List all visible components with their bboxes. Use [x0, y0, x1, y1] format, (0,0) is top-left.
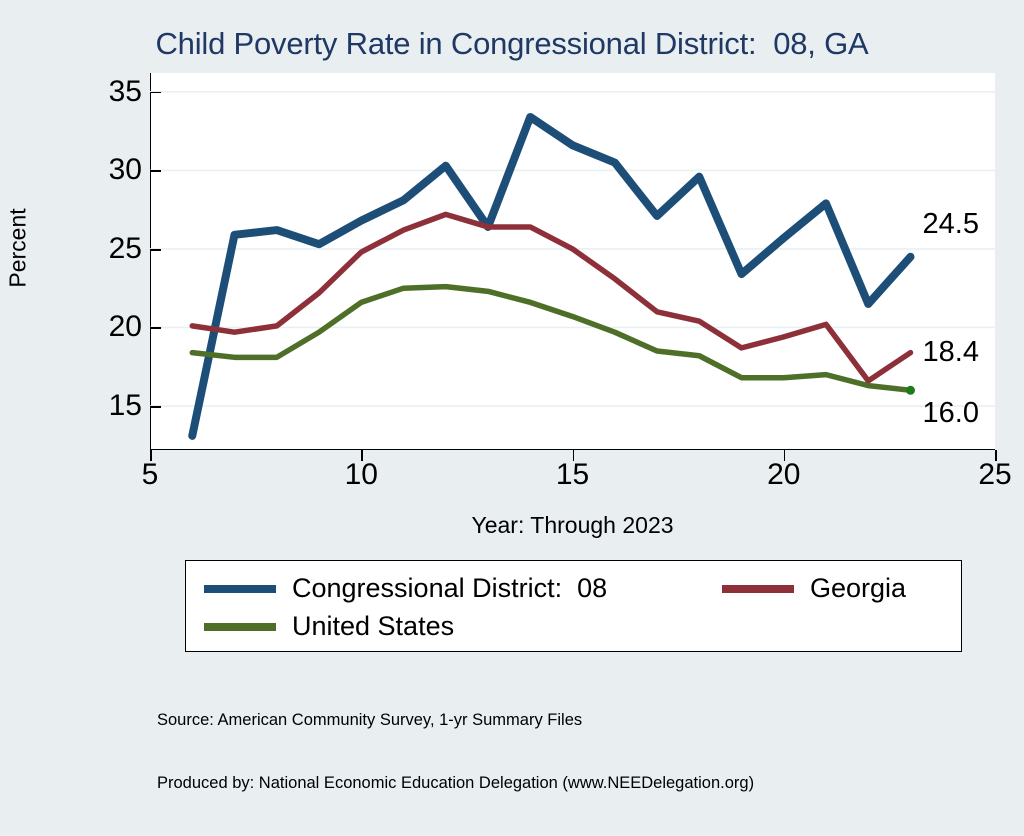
y-tick-mark: [150, 327, 161, 329]
series-end-marker-united-states: [906, 386, 915, 395]
y-tick-mark: [150, 406, 161, 408]
x-axis-title: Year: Through 2023: [150, 512, 995, 539]
x-tick-mark: [150, 450, 152, 461]
chart-legend: Congressional District: 08 Georgia Unite…: [185, 560, 962, 652]
x-tick-label: 15: [513, 458, 633, 492]
chart-page: Child Poverty Rate in Congressional Dist…: [0, 0, 1024, 745]
x-tick-mark: [995, 450, 997, 461]
x-tick-mark: [573, 450, 575, 461]
y-tick-label: 25: [42, 232, 142, 266]
series-line-0: [192, 117, 910, 436]
x-tick-label: 20: [724, 458, 844, 492]
x-tick-label: 10: [301, 458, 421, 492]
legend-item-united-states: United States: [204, 611, 454, 642]
legend-swatch-congressional-district: [204, 585, 276, 593]
y-axis-title: Percent: [5, 208, 32, 287]
y-tick-mark: [150, 249, 161, 251]
plot-svg: [150, 73, 995, 450]
y-tick-mark: [150, 170, 161, 172]
x-tick-mark: [784, 450, 786, 461]
x-tick-mark: [361, 450, 363, 461]
y-axis-ticks: 1520253035: [10, 0, 142, 745]
series-line-2: [192, 287, 910, 391]
x-tick-label: 5: [90, 458, 210, 492]
legend-label-united-states: United States: [292, 611, 454, 642]
footer-source-line: Source: American Community Survey, 1-yr …: [157, 710, 754, 731]
y-tick-label: 15: [42, 389, 142, 423]
footer-produced-line: Produced by: National Economic Education…: [157, 773, 754, 794]
legend-item-georgia: Georgia: [722, 573, 906, 604]
chart-title: Child Poverty Rate in Congressional Dist…: [0, 26, 1024, 62]
y-tick-label: 30: [42, 153, 142, 187]
end-label-series-1: 18.4: [923, 336, 979, 369]
legend-item-congressional-district: Congressional District: 08: [204, 573, 607, 604]
y-tick-label: 20: [42, 310, 142, 344]
legend-label-congressional-district: Congressional District: 08: [292, 573, 607, 604]
end-label-series-0: 24.5: [923, 208, 979, 241]
y-tick-label: 35: [42, 75, 142, 109]
y-tick-mark: [150, 92, 161, 94]
series-lines: [192, 117, 915, 436]
end-label-series-2: 16.0: [923, 397, 979, 430]
x-tick-label: 25: [935, 458, 1024, 492]
legend-label-georgia: Georgia: [810, 573, 906, 604]
footer-text: Source: American Community Survey, 1-yr …: [157, 668, 754, 836]
legend-swatch-united-states: [204, 623, 276, 631]
legend-swatch-georgia: [722, 585, 794, 593]
